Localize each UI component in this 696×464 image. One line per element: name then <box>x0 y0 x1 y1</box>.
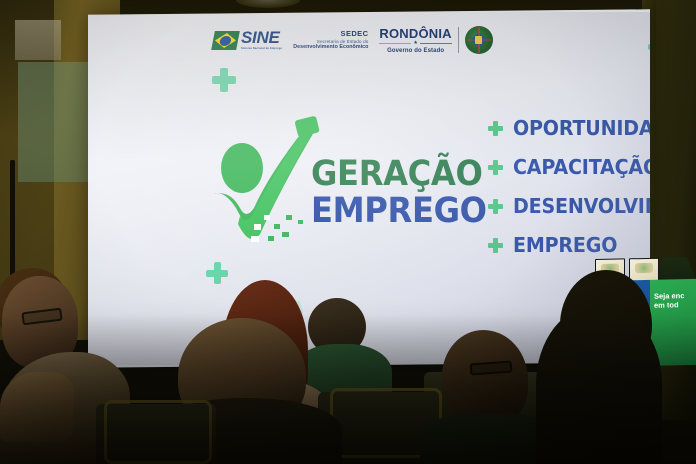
plus-icon <box>488 238 503 253</box>
person-right-glasses-head <box>442 330 528 426</box>
sine-wordmark: SINE <box>241 29 282 46</box>
geracao-emprego-logo: GERAÇÃO EMPREGO <box>210 116 485 261</box>
list-item: EMPREGO <box>488 233 650 257</box>
list-item: DESENVOLVIMENTO <box>488 194 650 218</box>
chair-frame <box>104 400 212 464</box>
bullet-label: CAPACITAÇÃO <box>513 155 650 179</box>
wall-poster-lower <box>18 62 88 182</box>
sine-tagline: Sistema Nacional de Emprego <box>241 48 282 51</box>
rondonia-subtitle: Governo do Estado <box>387 48 444 54</box>
sedec-line2: Desenvolvimento Econômico <box>293 44 368 50</box>
bullet-label: OPORTUNIDADES <box>513 116 650 140</box>
wall-poster-upper <box>15 20 61 60</box>
rondonia-rule: ★ <box>379 41 451 46</box>
brand-wordmark: GERAÇÃO EMPREGO <box>311 158 502 228</box>
rondonia-logo: RONDÔNIA ★ Governo do Estado <box>379 26 492 54</box>
banner-green-line2: em tod <box>654 300 692 310</box>
rule-orange <box>379 43 411 45</box>
person-far-right-body <box>536 304 662 464</box>
list-item: OPORTUNIDADES <box>488 116 650 140</box>
decorative-cross-icon <box>648 38 650 56</box>
benefits-list: OPORTUNIDADES CAPACITAÇÃO DESENVOLVIMENT… <box>488 116 650 257</box>
bullet-label: EMPREGO <box>513 233 617 257</box>
bullet-label: DESENVOLVIMENTO <box>513 194 650 218</box>
logo-divider <box>458 27 459 53</box>
photo-scene: SINE Sistema Nacional de Emprego SEDEC S… <box>0 0 696 464</box>
brand-line-emprego: EMPREGO <box>311 195 487 228</box>
plus-icon <box>488 121 503 136</box>
rondonia-wordmark: RONDÔNIA <box>379 27 451 40</box>
list-item: CAPACITAÇÃO <box>488 155 650 179</box>
rondonia-coat-of-arms-icon <box>465 26 493 54</box>
decorative-cross-icon <box>212 68 236 92</box>
framed-certificate-icon <box>629 258 659 283</box>
header-logo-bar: SINE Sistema Nacional de Emprego SEDEC S… <box>213 26 493 54</box>
person-left-arm <box>0 372 74 442</box>
rule-green <box>420 43 452 45</box>
plus-icon <box>488 199 503 214</box>
plus-icon <box>488 160 503 175</box>
brand-line-geracao: GERAÇÃO <box>311 158 487 191</box>
brazil-flag-diamond-icon <box>211 31 240 50</box>
sedec-acronym: SEDEC <box>341 30 369 39</box>
sedec-logo: SEDEC Secretaria de Estado do Desenvolvi… <box>293 30 368 51</box>
green-checkmark-person-icon <box>210 116 320 261</box>
sine-logo: SINE Sistema Nacional de Emprego <box>213 29 282 50</box>
star-icon: ★ <box>413 41 417 46</box>
decorative-cross-icon <box>206 262 228 284</box>
